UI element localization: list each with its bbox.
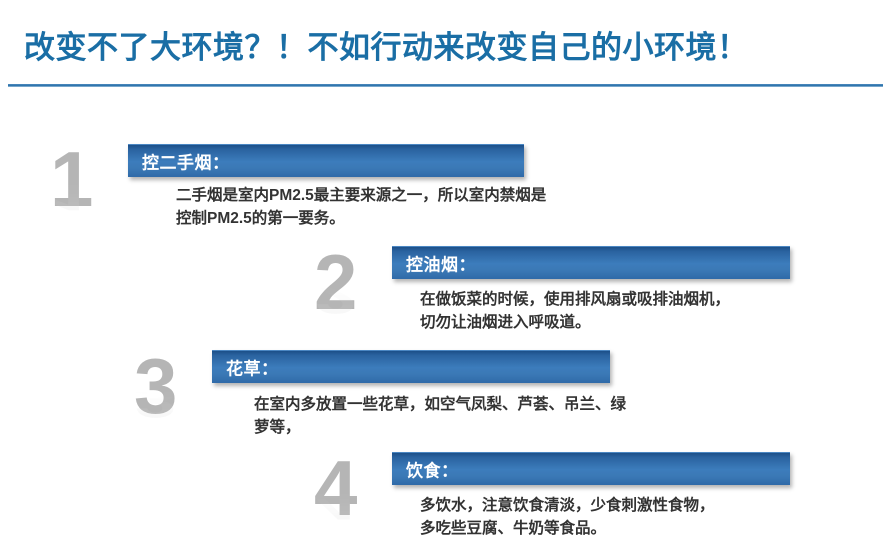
item-body-line-1-2: 控制PM2.5的第一要务。 — [176, 207, 546, 230]
item-body-2: 在做饭菜的时候，使用排风扇或吸排油烟机， 切勿让油烟进入呼吸道。 — [420, 288, 730, 334]
item-body-line-4-2: 多吃些豆腐、牛奶等食品。 — [420, 517, 715, 540]
item-heading-bar-1[interactable]: 控二手烟： — [128, 144, 524, 177]
page-title: 改变不了大环境？！不如行动来改变自己的小环境！ — [24, 26, 749, 70]
item-numeral-3: 3 — [134, 347, 177, 425]
item-numeral-1: 1 — [50, 140, 93, 218]
item-body-line-2-2: 切勿让油烟进入呼吸道。 — [420, 311, 730, 334]
title-divider — [8, 84, 883, 87]
item-heading-label-3: 花草： — [226, 355, 279, 380]
item-heading-label-1: 控二手烟： — [142, 149, 230, 174]
item-heading-bar-2[interactable]: 控油烟： — [392, 246, 790, 279]
item-body-3: 在室内多放置一些花草，如空气凤梨、芦荟、吊兰、绿 萝等， — [254, 393, 626, 439]
item-heading-label-2: 控油烟： — [406, 251, 476, 276]
slide-canvas: 改变不了大环境？！不如行动来改变自己的小环境！ 1 1 控二手烟： 二手烟是室内… — [0, 0, 883, 548]
item-body-4: 多饮水，注意饮食清淡，少食刺激性食物， 多吃些豆腐、牛奶等食品。 — [420, 494, 715, 540]
item-heading-label-4: 饮食： — [406, 457, 459, 482]
item-body-line-3-1: 在室内多放置一些花草，如空气凤梨、芦荟、吊兰、绿 — [254, 393, 626, 416]
item-heading-bar-3[interactable]: 花草： — [212, 350, 610, 383]
item-body-line-2-1: 在做饭菜的时候，使用排风扇或吸排油烟机， — [420, 288, 730, 311]
item-numeral-4: 4 — [314, 449, 357, 527]
item-body-line-4-1: 多饮水，注意饮食清淡，少食刺激性食物， — [420, 494, 715, 517]
item-body-line-3-2: 萝等， — [254, 416, 626, 439]
item-heading-bar-4[interactable]: 饮食： — [392, 452, 790, 485]
item-numeral-2: 2 — [314, 243, 357, 321]
item-body-line-1-1: 二手烟是室内PM2.5最主要来源之一，所以室内禁烟是 — [176, 184, 546, 207]
item-body-1: 二手烟是室内PM2.5最主要来源之一，所以室内禁烟是 控制PM2.5的第一要务。 — [176, 184, 546, 230]
title-area: 改变不了大环境？！不如行动来改变自己的小环境！ — [0, 26, 883, 88]
